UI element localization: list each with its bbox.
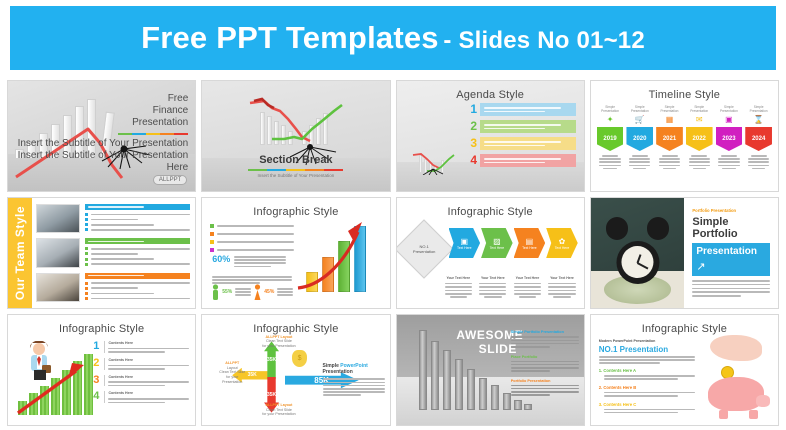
slide-12-title: Infographic Style: [591, 323, 778, 335]
growth-arrow-icon: [202, 198, 389, 308]
slide-8-eyebrow: Portfolio Presentation: [692, 208, 770, 213]
page-root: Free PPT Templates - Slides No 01~12: [0, 0, 786, 430]
tower-3: [443, 350, 451, 409]
body-text: [692, 280, 770, 297]
banner-title-main: Free PPT Templates: [141, 20, 439, 55]
slide-2-caption: Section Break Insert the Subtitle of You…: [202, 154, 389, 178]
timeline-year: 2020: [626, 127, 653, 151]
label-right: Simple PowerPoint Presentation: [323, 363, 385, 396]
numbered-content-list: 1 Contents Here 2 Contents Here 3 Conten…: [93, 341, 189, 408]
rainbow-divider: [248, 169, 343, 171]
blue-highlight-band: Presentation ↗: [692, 243, 770, 276]
alarm-bell-left: [606, 217, 628, 239]
timeline-item[interactable]: Simple Presentation ▣ 2023: [716, 105, 743, 169]
no1-badge: NO.1 Presentation: [403, 228, 445, 270]
tower-6: [479, 378, 487, 410]
agenda-row[interactable]: 4: [466, 154, 576, 167]
step-caption: Your Text Here: [443, 276, 475, 298]
item-number: 4: [93, 391, 101, 403]
diagonal-arrow-icon: ↗: [696, 260, 766, 273]
rainbow-divider: [118, 133, 188, 135]
avatar: [36, 204, 80, 233]
team-member-list: [36, 204, 190, 302]
caption-title: Your Text Here: [481, 276, 505, 280]
slide-3-title: Agenda Style: [397, 89, 584, 101]
step-chevron-1[interactable]: ▣ Text Here: [449, 228, 481, 258]
slide-5-title: Our Team Style: [13, 206, 27, 300]
block-heading: Simple Portfolio Presentation: [511, 330, 579, 334]
contents-label: 2. Contents Here B: [599, 385, 695, 390]
timeline-icon: ✦: [597, 115, 624, 125]
timeline-year: 2021: [656, 127, 683, 151]
agenda-number: 4: [468, 154, 480, 167]
timeline-icon: ⌛: [745, 115, 772, 125]
slide-thumbnail-timeline-style[interactable]: Timeline Style Simple Presentation ✦ 201…: [590, 80, 779, 192]
slide-thumbnail-infographic-style-bars[interactable]: Infographic Style 60%: [201, 197, 390, 309]
caption-title: Your Text Here: [516, 276, 540, 280]
item-heading: Contents Here: [108, 375, 189, 379]
slide-2-subtitle: Insert the Subtitle of Your Presentation: [202, 173, 389, 178]
item-heading: Contents Here: [108, 391, 189, 395]
tower-7: [491, 385, 499, 409]
slide-grid: Free Finance Presentation Insert the Sub…: [7, 80, 779, 426]
timeline-caption: Simple Presentation: [686, 105, 713, 113]
numbered-item[interactable]: 3 Contents Here: [93, 375, 189, 387]
banner-title-sub: - Slides No 01~12: [443, 27, 645, 54]
pig-leg-front: [719, 410, 728, 419]
contents-label: 3. Contents Here C: [599, 402, 695, 407]
agenda-row-list: 1 2 3: [466, 103, 576, 171]
timeline-year: 2019: [597, 127, 624, 151]
money-bag-icon: $: [292, 350, 307, 367]
slide-1-note: Insert the Subtitle of Your Presentation…: [8, 150, 188, 174]
timeline-year: 2023: [716, 127, 743, 151]
badge-line-2: Presentation: [412, 249, 434, 254]
slide-8-title: Simple Portfolio: [692, 216, 770, 240]
team-member-row[interactable]: [36, 238, 190, 267]
banner-title: Free PPT Templates - Slides No 01~12: [141, 20, 645, 56]
timeline-caption: Simple Presentation: [656, 105, 683, 113]
timeline-year: 2022: [686, 127, 713, 151]
block-heading: Place Portfolio: [511, 355, 579, 359]
timeline-item[interactable]: Simple Presentation ⌛ 2024: [745, 105, 772, 169]
contents-list: 1. Contents Here A 2. Contents Here B 3.…: [599, 368, 695, 413]
slide-2-title: Section Break: [202, 154, 389, 166]
caption-title: Your Text Here: [550, 276, 574, 280]
slide-thumbnail-infographic-style-piggy[interactable]: Infographic Style Modern PowerPoint Pres…: [590, 314, 779, 426]
timeline-caption: Simple Presentation: [626, 105, 653, 113]
title-line-2: Finance: [8, 105, 188, 117]
numbered-item[interactable]: 1 Contents Here: [93, 341, 189, 353]
mini-chart: [409, 149, 455, 175]
slide-8-subtitle: Presentation: [696, 246, 766, 257]
contents-item[interactable]: 1. Contents Here A: [599, 368, 695, 380]
numbered-item[interactable]: 2 Contents Here: [93, 358, 189, 370]
step-icon: ▨: [493, 237, 501, 246]
allppt-logo: ALLPPT: [153, 175, 187, 185]
timeline-item[interactable]: Simple Presentation 🛒 2020: [626, 105, 653, 169]
step-caption-list: Your Text Here Your Text Here Your Text …: [443, 276, 578, 298]
timeline-caption: Simple Presentation: [597, 105, 624, 113]
clock-photo: [591, 198, 685, 308]
timeline-item[interactable]: Simple Presentation ▦ 2021: [656, 105, 683, 169]
piggy-text-panel: Modern PowerPoint Presentation NO.1 Pres…: [599, 339, 695, 418]
tower-5: [467, 369, 475, 410]
pig-snout: [756, 395, 770, 407]
step-chevron-4[interactable]: ✿ Text Here: [546, 228, 578, 258]
slide-thumbnail-free-finance-presentation[interactable]: Free Finance Presentation Insert the Sub…: [7, 80, 196, 192]
step-caption: Your Text Here: [512, 276, 544, 298]
timeline-year: 2024: [745, 127, 772, 151]
agenda-number: 3: [468, 137, 480, 150]
team-member-row[interactable]: [36, 204, 190, 233]
slide-thumbnail-agenda-style[interactable]: Agenda Style: [396, 80, 585, 192]
step-label: Text Here: [555, 246, 570, 250]
timeline-list: Simple Presentation ✦ 2019 Simple Presen…: [597, 105, 772, 169]
team-member-row[interactable]: [36, 273, 190, 302]
pig-leg-back: [749, 410, 758, 419]
slide-4-title: Timeline Style: [591, 89, 778, 101]
header-banner: Free PPT Templates - Slides No 01~12: [10, 6, 776, 70]
portfolio-block-list: Simple Portfolio Presentation Place Port…: [511, 330, 579, 402]
contents-label: 1. Contents Here A: [599, 368, 695, 373]
step-label: Text Here: [522, 246, 537, 250]
item-number: 3: [93, 375, 101, 387]
agenda-row[interactable]: 3: [466, 137, 576, 150]
timeline-caption: Simple Presentation: [745, 105, 772, 113]
slide-thumbnail-our-team-style[interactable]: Our Team Style: [7, 197, 196, 309]
slide-10-title: Infographic Style: [202, 323, 389, 335]
step-chevron-2[interactable]: ▨ Text Here: [481, 228, 513, 258]
tower-2: [431, 341, 439, 409]
tower-1: [419, 330, 427, 409]
slide-1-heading: Free Finance Presentation Insert the Sub…: [8, 93, 188, 174]
agenda-number: 1: [468, 103, 480, 116]
timeline-icon: ✉: [686, 115, 713, 125]
alarm-clock-icon: [616, 241, 659, 284]
slide-7-title: Infographic Style: [397, 206, 584, 218]
step-caption: Your Text Here: [546, 276, 578, 298]
portfolio-block: Place Portfolio: [511, 355, 579, 372]
numbered-item[interactable]: 4 Contents Here: [93, 391, 189, 403]
item-heading: Contents Here: [108, 341, 189, 345]
portfolio-text-panel: Portfolio Presentation Simple Portfolio …: [684, 198, 778, 308]
portfolio-block: Portfolio Presentation: [511, 379, 579, 396]
label-bottom: ALLPPT Layout Clean Text Slide for your …: [251, 403, 307, 417]
timeline-icon: ▣: [716, 115, 743, 125]
slide-thumbnail-awesome-slide[interactable]: AWESOME SLIDE Simple Portfolio Presentat…: [396, 314, 585, 426]
step-label: Text Here: [457, 246, 472, 250]
slide-thumbnail-section-break[interactable]: Section Break Insert the Subtitle of You…: [201, 80, 390, 192]
businessman-icon: [24, 341, 58, 381]
title-line-1: Free: [8, 93, 188, 105]
tower-10: [524, 404, 532, 410]
slide-12-heading: NO.1 Presentation: [599, 345, 695, 354]
slide-thumbnail-infographic-style-green-bars[interactable]: Infographic Style: [7, 314, 196, 426]
team-side-banner: Our Team Style: [8, 198, 32, 308]
slide-9-title: Infographic Style: [8, 323, 195, 335]
tower-8: [503, 393, 511, 410]
slide-thumbnail-infographic-style-chevrons[interactable]: Infographic Style NO.1 Presentation ▣ Te…: [396, 197, 585, 309]
slide-12-eyebrow: Modern PowerPoint Presentation: [599, 339, 695, 343]
step-icon: ▣: [461, 237, 469, 246]
label-top: ALLPPT Layout Clean Text Slide for your …: [251, 335, 307, 349]
title-line-3: Presentation: [8, 117, 188, 129]
item-heading: Contents Here: [108, 358, 189, 362]
agenda-row[interactable]: 2: [466, 120, 576, 133]
step-icon: ✿: [559, 237, 566, 246]
block-heading: Portfolio Presentation: [511, 379, 579, 383]
timeline-icon: 🛒: [626, 115, 653, 125]
avatar: [36, 273, 80, 302]
step-icon: ▤: [526, 237, 534, 246]
step-caption: Your Text Here: [477, 276, 509, 298]
timeline-caption: Simple Presentation: [716, 105, 743, 113]
timeline-item[interactable]: Simple Presentation ✦ 2019: [597, 105, 624, 169]
timeline-item[interactable]: Simple Presentation ✉ 2022: [686, 105, 713, 169]
tower-4: [455, 359, 463, 410]
piggy-bank-icon: [708, 377, 764, 411]
slide-thumbnail-infographic-style-arrows[interactable]: Infographic Style 85K 35K 35K 35K $ ALLP…: [201, 314, 390, 426]
agenda-row[interactable]: 1: [466, 103, 576, 116]
item-number: 2: [93, 358, 101, 370]
avatar: [36, 238, 80, 267]
timeline-icon: ▦: [656, 115, 683, 125]
label-left: ALLPPT Layout Clean Text Slide for your …: [207, 361, 257, 384]
caption-title: Your Text Here: [446, 276, 470, 280]
hand-icon: [710, 335, 762, 361]
agenda-number: 2: [468, 120, 480, 133]
portfolio-block: Simple Portfolio Presentation: [511, 330, 579, 347]
step-label: Text Here: [490, 246, 505, 250]
contents-item[interactable]: 2. Contents Here B: [599, 385, 695, 397]
slide-thumbnail-simple-portfolio[interactable]: Portfolio Presentation Simple Portfolio …: [590, 197, 779, 309]
item-number: 1: [93, 341, 101, 353]
slide-1-subtitle: Insert the Subtitle of Your Presentation: [8, 138, 188, 150]
contents-item[interactable]: 3. Contents Here C: [599, 402, 695, 414]
step-chevron-3[interactable]: ▤ Text Here: [514, 228, 546, 258]
alarm-bell-right: [647, 217, 669, 239]
